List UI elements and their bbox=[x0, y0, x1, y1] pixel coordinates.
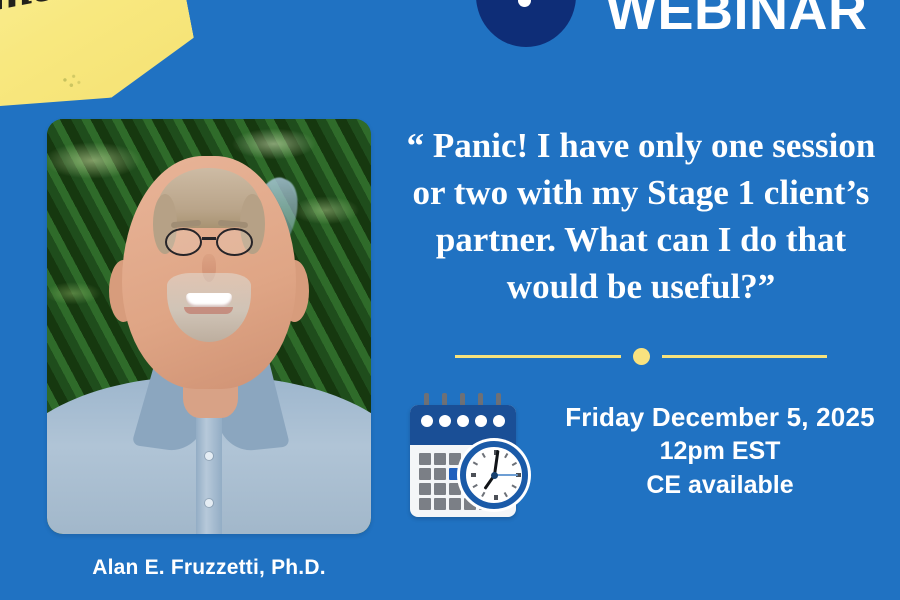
eyeglasses-icon bbox=[165, 228, 252, 256]
sticky-note-paper bbox=[0, 0, 202, 120]
clock-second-hand bbox=[494, 474, 518, 476]
lower-lip bbox=[184, 307, 233, 314]
navy-circle-badge-icon bbox=[476, 0, 576, 47]
page-title: WEBINAR bbox=[606, 0, 867, 38]
eyeglass-lens-left bbox=[165, 228, 202, 256]
calendar-ring-5 bbox=[493, 415, 505, 427]
event-time: 12pm EST bbox=[552, 434, 888, 468]
calendar-cell bbox=[434, 468, 446, 480]
smile-teeth bbox=[186, 293, 231, 307]
divider-bar-right bbox=[662, 355, 828, 358]
clock-pivot bbox=[491, 472, 498, 479]
clock-icon bbox=[460, 441, 528, 509]
speaker-face bbox=[122, 156, 297, 388]
calendar-cell bbox=[449, 453, 461, 465]
calendar-cell bbox=[419, 453, 431, 465]
clock-tick bbox=[512, 484, 517, 488]
speaker-name: Alan E. Fruzzetti, Ph.D. bbox=[47, 556, 371, 580]
calendar-clock-icon bbox=[408, 393, 530, 523]
webinar-promo-poster: me WEBINAR bbox=[0, 0, 900, 600]
clock-tick bbox=[504, 492, 508, 497]
calendar-ring-3 bbox=[457, 415, 469, 427]
clock-tick bbox=[471, 473, 476, 477]
quote-text: “ Panic! I have only one session or two … bbox=[400, 122, 882, 310]
shirt-button-lower bbox=[205, 499, 213, 507]
clock-tick bbox=[482, 492, 486, 497]
clock-tick bbox=[473, 484, 478, 488]
shirt-placket bbox=[196, 401, 222, 534]
divider bbox=[455, 348, 827, 365]
calendar-cell bbox=[449, 483, 461, 495]
divider-dot-icon bbox=[633, 348, 650, 365]
event-details: Friday December 5, 2025 12pm EST CE avai… bbox=[552, 400, 888, 502]
calendar-cell bbox=[434, 498, 446, 510]
calendar-cell bbox=[434, 483, 446, 495]
clock-tick bbox=[482, 453, 486, 458]
event-ce-note: CE available bbox=[552, 468, 888, 502]
event-date: Friday December 5, 2025 bbox=[552, 400, 888, 434]
calendar-cell bbox=[419, 483, 431, 495]
clock-tick bbox=[473, 462, 478, 466]
calendar-cell bbox=[419, 498, 431, 510]
calendar-cell bbox=[449, 498, 461, 510]
calendar-ring-2 bbox=[439, 415, 451, 427]
clock-tick bbox=[504, 453, 508, 458]
speaker-figure bbox=[47, 119, 371, 534]
calendar-ring-1 bbox=[421, 415, 433, 427]
eyeglass-lens-right bbox=[216, 228, 253, 256]
divider-bar-left bbox=[455, 355, 621, 358]
eyeglass-bridge bbox=[202, 237, 216, 240]
speaker-headshot-photo bbox=[47, 119, 371, 534]
shirt-button-upper bbox=[205, 452, 213, 460]
clock-tick bbox=[512, 462, 517, 466]
calendar-cell bbox=[419, 468, 431, 480]
clock-tick bbox=[494, 495, 498, 500]
sticky-note: me bbox=[0, 0, 202, 120]
calendar-cell bbox=[434, 453, 446, 465]
calendar-ring-4 bbox=[475, 415, 487, 427]
